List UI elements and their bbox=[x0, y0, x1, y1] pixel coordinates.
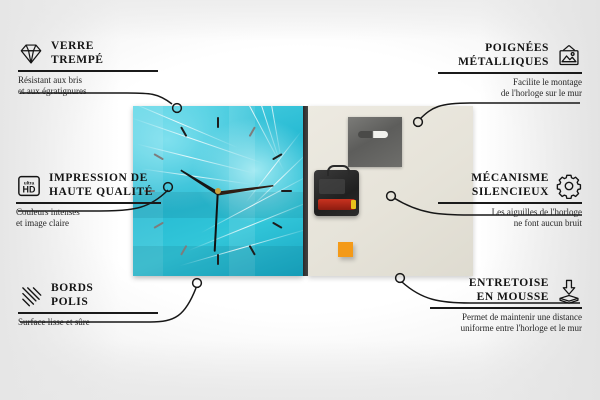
clock-center-pin bbox=[215, 188, 221, 194]
feature-mecanisme-silencieux: MÉCANISME SILENCIEUX Les aiguilles de l'… bbox=[438, 172, 582, 229]
feature-title: POIGNÉES MÉTALLIQUES bbox=[458, 42, 549, 69]
feature-title: MÉCANISME SILENCIEUX bbox=[471, 172, 549, 199]
feature-title: IMPRESSION DE HAUTE QUALITÉ bbox=[49, 172, 153, 199]
svg-text:HD: HD bbox=[23, 184, 36, 194]
feature-divider bbox=[438, 202, 582, 204]
feature-poignees-metalliques: POIGNÉES MÉTALLIQUES Facilite le montage… bbox=[438, 42, 582, 99]
quartz-movement-box bbox=[314, 170, 359, 216]
feature-divider bbox=[430, 307, 582, 309]
feature-title: VERRE TREMPÉ bbox=[51, 40, 104, 67]
leader-dot-bords-polis bbox=[193, 279, 202, 288]
diamond-icon bbox=[18, 41, 44, 67]
feature-impression-haute-qualite: ultra HD IMPRESSION DE HAUTE QUALITÉ Cou… bbox=[16, 172, 161, 229]
feature-verre-trempe: VERRE TREMPÉ Résistant aux bris et aux é… bbox=[18, 40, 158, 97]
feature-divider bbox=[16, 202, 161, 204]
feature-title: BORDS POLIS bbox=[51, 282, 93, 309]
feature-title: ENTRETOISE EN MOUSSE bbox=[469, 277, 549, 304]
foam-spacer bbox=[338, 242, 353, 257]
product-image bbox=[133, 106, 473, 276]
feature-divider bbox=[438, 72, 582, 74]
feature-description: Couleurs intenses et image claire bbox=[16, 207, 161, 229]
feature-description: Les aiguilles de l'horloge ne font aucun… bbox=[438, 207, 582, 229]
aa-battery bbox=[318, 199, 355, 210]
feature-divider bbox=[18, 70, 158, 72]
metal-hanger-plate bbox=[348, 117, 402, 167]
infographic-canvas: VERRE TREMPÉ Résistant aux bris et aux é… bbox=[0, 0, 600, 400]
background-vignette-bottom bbox=[0, 340, 600, 400]
feature-description: Surface lisse et sûre bbox=[18, 317, 158, 328]
feature-entretoise-en-mousse: ENTRETOISE EN MOUSSE Permet de maintenir… bbox=[430, 277, 582, 334]
picture-frame-icon bbox=[556, 43, 582, 69]
gear-icon bbox=[556, 173, 582, 199]
feature-description: Résistant aux bris et aux égratignures bbox=[18, 75, 158, 97]
background-vignette-top bbox=[0, 0, 600, 40]
arrow-down-pad-icon bbox=[556, 278, 582, 304]
feature-description: Facilite le montage de l'horloge sur le … bbox=[438, 77, 582, 99]
polished-edges-icon bbox=[18, 283, 44, 309]
ultra-hd-icon: ultra HD bbox=[16, 173, 42, 199]
feature-description: Permet de maintenir une distance uniform… bbox=[430, 312, 582, 334]
feature-bords-polis: BORDS POLIS Surface lisse et sûre bbox=[18, 282, 158, 328]
feature-divider bbox=[18, 312, 158, 314]
